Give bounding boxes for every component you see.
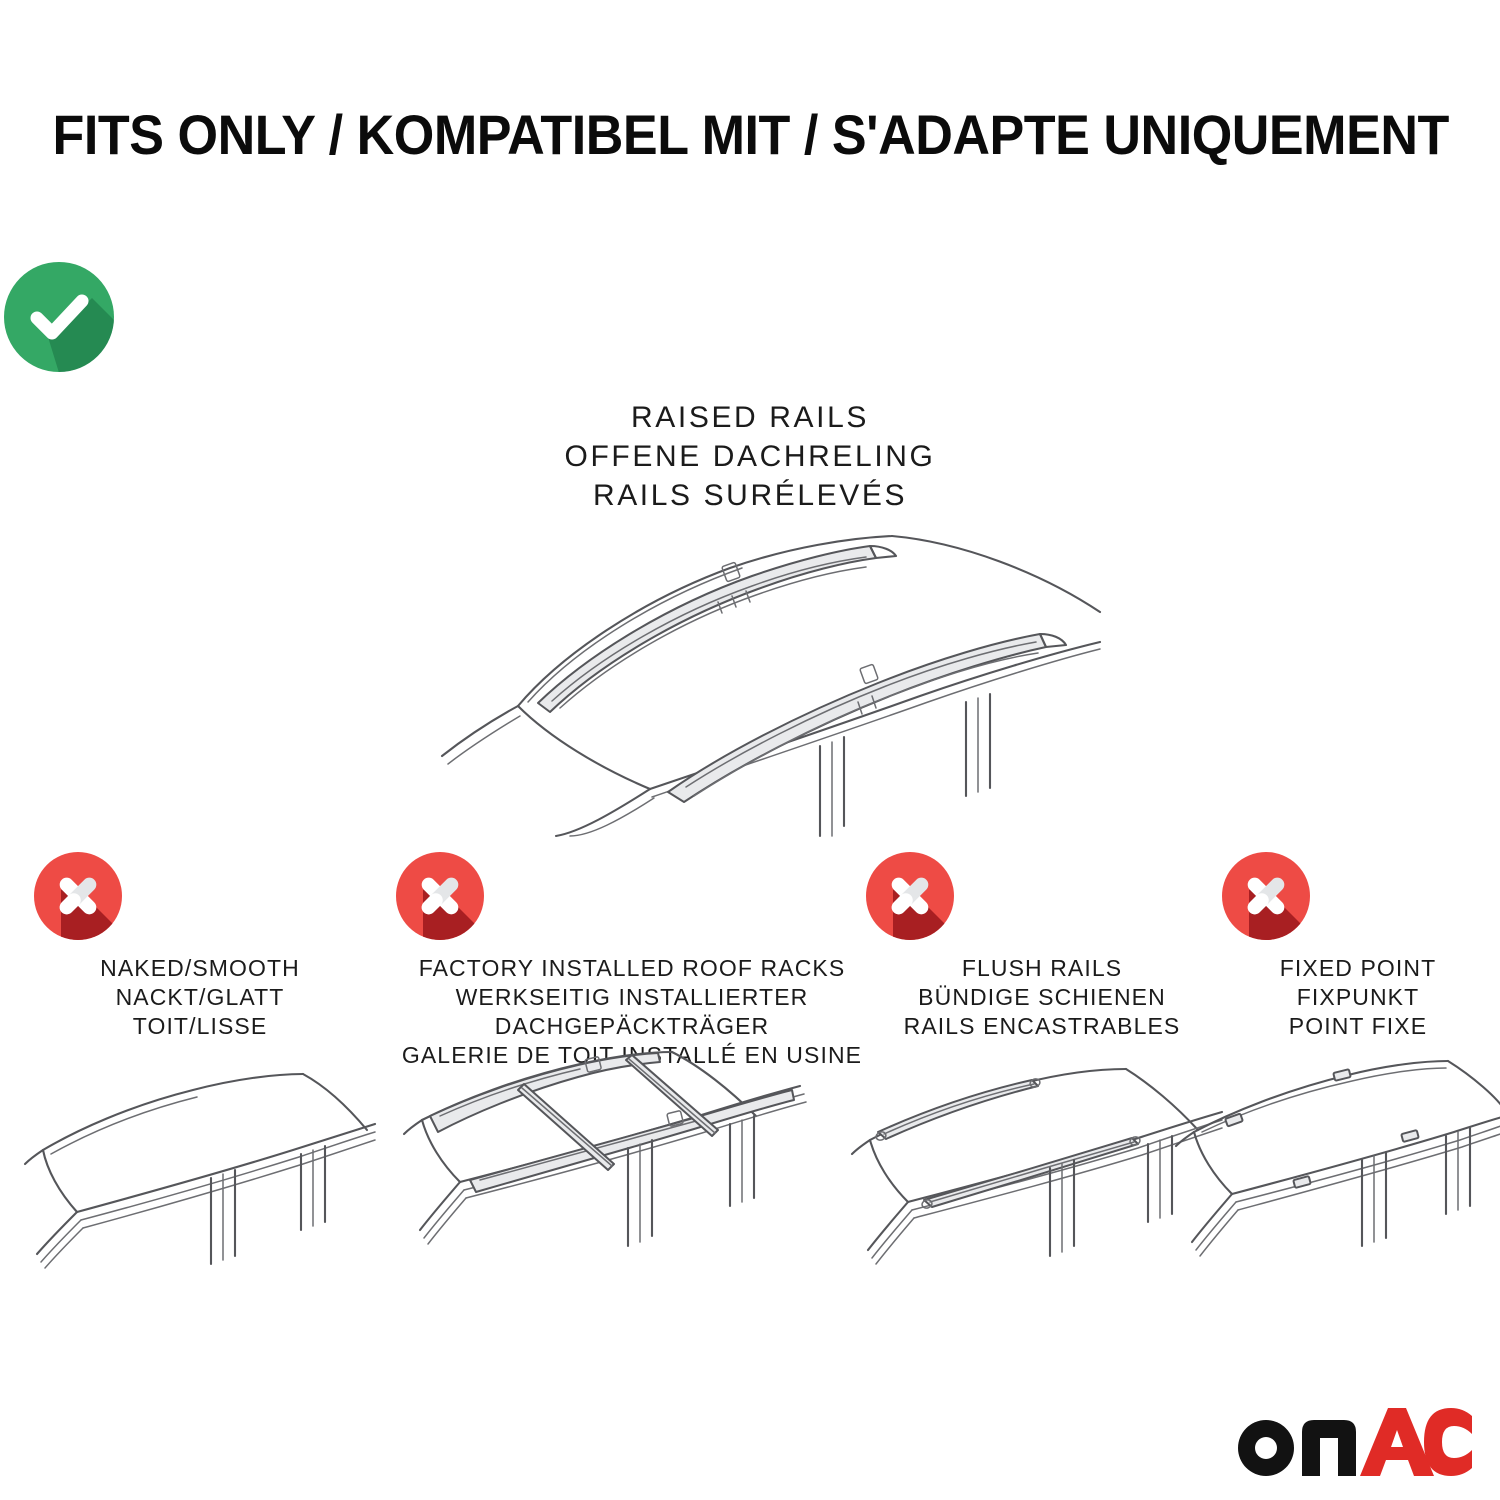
incompatible-label-en: FLUSH RAILS: [862, 954, 1222, 983]
car-roof-fixed-point-illustration: [1176, 1056, 1500, 1306]
incompatible-column-flush-rails: FLUSH RAILS BÜNDIGE SCHIENEN RAILS ENCAS…: [862, 848, 1222, 1041]
incompatible-label-de: BÜNDIGE SCHIENEN: [862, 983, 1222, 1012]
incompatible-label-fr: POINT FIXE: [1218, 1012, 1498, 1041]
compatible-section: RAISED RAILS OFFENE DACHRELING RAILS SUR…: [0, 258, 1500, 515]
incompatible-column-fixed-point: FIXED POINT FIXPUNKT POINT FIXE: [1218, 848, 1498, 1041]
car-roof-flush-rails-illustration: [852, 1056, 1222, 1306]
incompatible-label-de: FIXPUNKT: [1218, 983, 1498, 1012]
logo-letter-o: [1238, 1420, 1294, 1476]
page-title: FITS ONLY / KOMPATIBEL MIT / S'ADAPTE UN…: [53, 104, 1449, 166]
incompatible-label-en: NAKED/SMOOTH: [30, 954, 370, 983]
car-roof-factory-roof-racks-illustration: [400, 1044, 820, 1304]
check-circle-icon: [0, 258, 1500, 376]
incompatible-label-de-1: WERKSEITIG INSTALLIERTER: [392, 983, 872, 1012]
car-roof-raised-rails-illustration: [400, 506, 1100, 836]
incompatible-labels: FIXED POINT FIXPUNKT POINT FIXE: [1218, 954, 1498, 1041]
incompatible-sections: NAKED/SMOOTH NACKT/GLATT TOIT/LISSE: [0, 848, 1500, 1468]
omac-logo: [1232, 1408, 1472, 1476]
cross-circle-icon: [30, 848, 370, 944]
compatible-label-en: RAISED RAILS: [0, 398, 1500, 437]
cross-circle-icon: [1218, 848, 1498, 944]
cross-circle-icon: [392, 848, 872, 944]
compatible-label-de: OFFENE DACHRELING: [0, 437, 1500, 476]
incompatible-column-naked-smooth: NAKED/SMOOTH NACKT/GLATT TOIT/LISSE: [30, 848, 370, 1041]
car-roof-naked-smooth-illustration: [25, 1058, 375, 1308]
incompatible-label-en: FIXED POINT: [1218, 954, 1498, 983]
incompatible-label-de: NACKT/GLATT: [30, 983, 370, 1012]
incompatible-label-fr: TOIT/LISSE: [30, 1012, 370, 1041]
compatible-labels: RAISED RAILS OFFENE DACHRELING RAILS SUR…: [0, 398, 1500, 515]
incompatible-label-fr: RAILS ENCASTRABLES: [862, 1012, 1222, 1041]
incompatible-labels: NAKED/SMOOTH NACKT/GLATT TOIT/LISSE: [30, 954, 370, 1041]
incompatible-label-de-2: DACHGEPÄCKTRÄGER: [392, 1012, 872, 1041]
incompatible-labels: FLUSH RAILS BÜNDIGE SCHIENEN RAILS ENCAS…: [862, 954, 1222, 1041]
logo-letter-a: [1360, 1408, 1434, 1476]
page-title-bar: FITS ONLY / KOMPATIBEL MIT / S'ADAPTE UN…: [0, 104, 1500, 166]
incompatible-column-factory-roof-racks: FACTORY INSTALLED ROOF RACKS WERKSEITIG …: [392, 848, 872, 1070]
logo-letter-c: [1424, 1408, 1472, 1476]
incompatible-label-en: FACTORY INSTALLED ROOF RACKS: [392, 954, 872, 983]
cross-circle-icon: [862, 848, 1222, 944]
logo-letter-m: [1302, 1420, 1356, 1476]
